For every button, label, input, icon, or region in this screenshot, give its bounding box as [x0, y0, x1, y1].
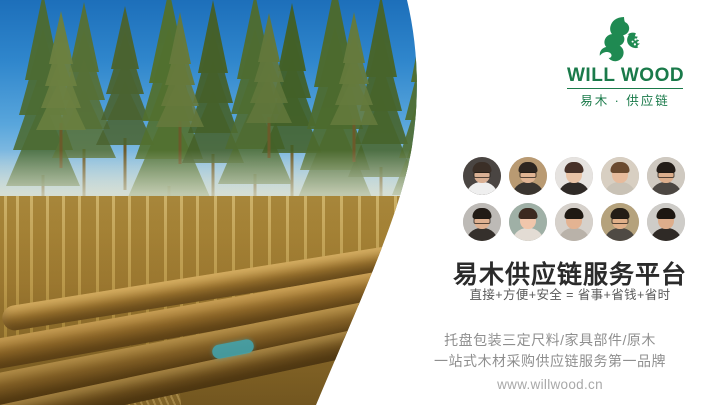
- avatar: [463, 203, 501, 241]
- avatar: [647, 203, 685, 241]
- avatar-hair: [657, 208, 676, 219]
- squirrel-icon: [594, 14, 656, 64]
- avatar-glasses: [474, 218, 491, 224]
- avatar: [509, 203, 547, 241]
- background-trunk: [394, 196, 397, 346]
- avatar-glasses: [658, 172, 675, 178]
- avatar-hair: [611, 162, 630, 173]
- avatar-glasses: [612, 218, 629, 224]
- tree-crown: [343, 9, 365, 63]
- brand-subtitle: 易木 · 供应链: [567, 90, 683, 109]
- avatar-hair: [565, 208, 584, 219]
- tree-crown: [411, 0, 447, 82]
- felled-logs: [0, 258, 460, 405]
- brand-name: WILL WOOD: [567, 66, 683, 86]
- avatar: [601, 203, 639, 241]
- footer-line-1: 托盘包装三定尺料/家具部件/原木: [400, 330, 700, 351]
- team-avatar-grid: [463, 157, 687, 241]
- conifer-tree: [246, 40, 292, 158]
- tree-trunk: [428, 184, 431, 262]
- avatar: [509, 157, 547, 195]
- avatar: [601, 157, 639, 195]
- brand-divider: [567, 88, 683, 89]
- forest-photo: [0, 0, 460, 405]
- conifer-tree: [330, 40, 378, 162]
- poster-canvas: WILL WOOD 易木 · 供应链 易木供应链服务平台 直接+方便+安全 = …: [0, 0, 720, 405]
- tree-crown: [258, 10, 280, 62]
- brand-logo: WILL WOOD 易木 · 供应链: [567, 14, 683, 109]
- background-trunk: [376, 196, 379, 346]
- avatar-hair: [565, 162, 584, 173]
- tagline: 直接+方便+安全 = 省事+省钱+省时: [452, 284, 688, 303]
- conifer-tree: [156, 40, 204, 164]
- avatar: [463, 157, 501, 195]
- website-url[interactable]: www.willwood.cn: [400, 372, 700, 397]
- background-trunk: [430, 196, 433, 346]
- background-trunk: [446, 196, 449, 346]
- conifer-tree: [36, 40, 86, 168]
- avatar-glasses: [520, 172, 537, 178]
- avatar-hair: [519, 208, 538, 219]
- avatar: [555, 203, 593, 241]
- background-trunk: [412, 196, 415, 346]
- footer-line-2: 一站式木材采购供应链服务第一品牌: [400, 351, 700, 372]
- tree-crown: [169, 9, 191, 64]
- avatar-glasses: [474, 172, 491, 178]
- avatar: [555, 157, 593, 195]
- tree-crown: [49, 8, 73, 64]
- footer-block: 托盘包装三定尺料/家具部件/原木 一站式木材采购供应链服务第一品牌 www.wi…: [400, 330, 700, 397]
- avatar: [647, 157, 685, 195]
